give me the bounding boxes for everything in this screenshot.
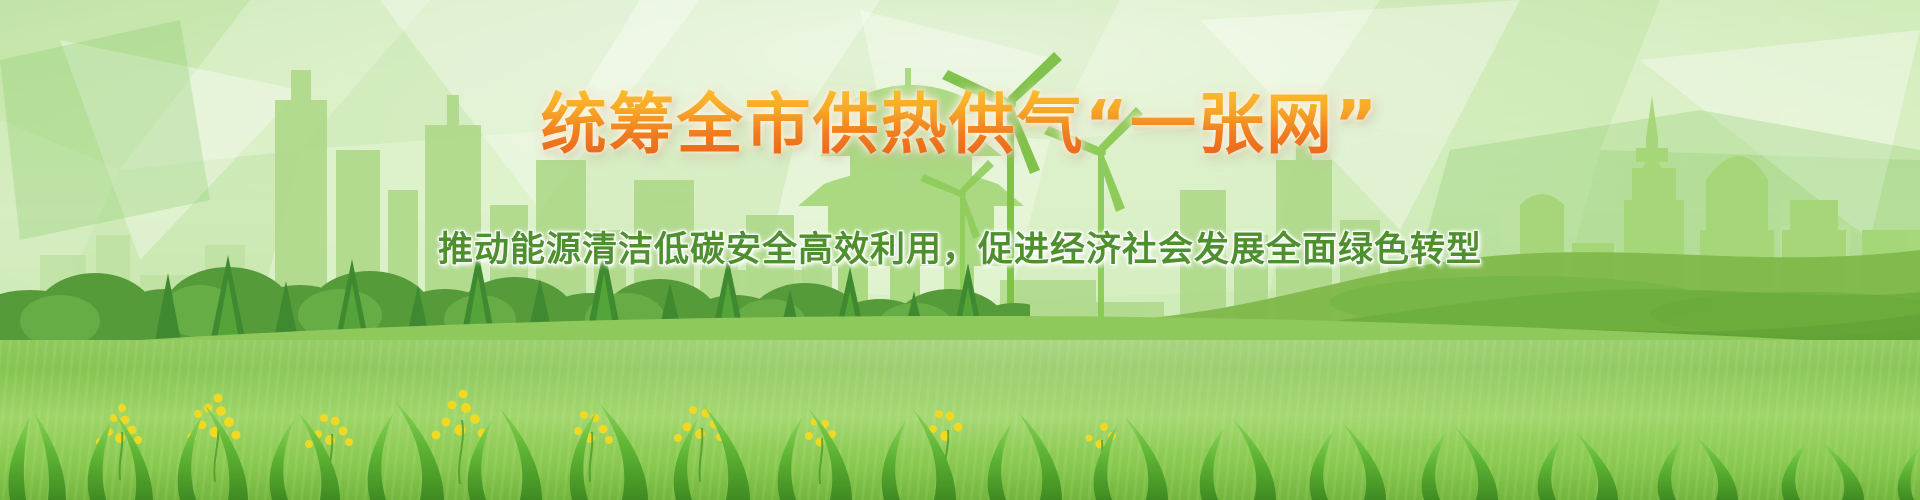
foreground-grass-and-flowers <box>0 320 1920 500</box>
green-energy-banner: 统筹全市供热供气“一张网” 推动能源清洁低碳安全高效利用，促进经济社会发展全面绿… <box>0 0 1920 500</box>
yellow-flower-cluster <box>96 390 1116 485</box>
grass-blades <box>9 400 1920 500</box>
